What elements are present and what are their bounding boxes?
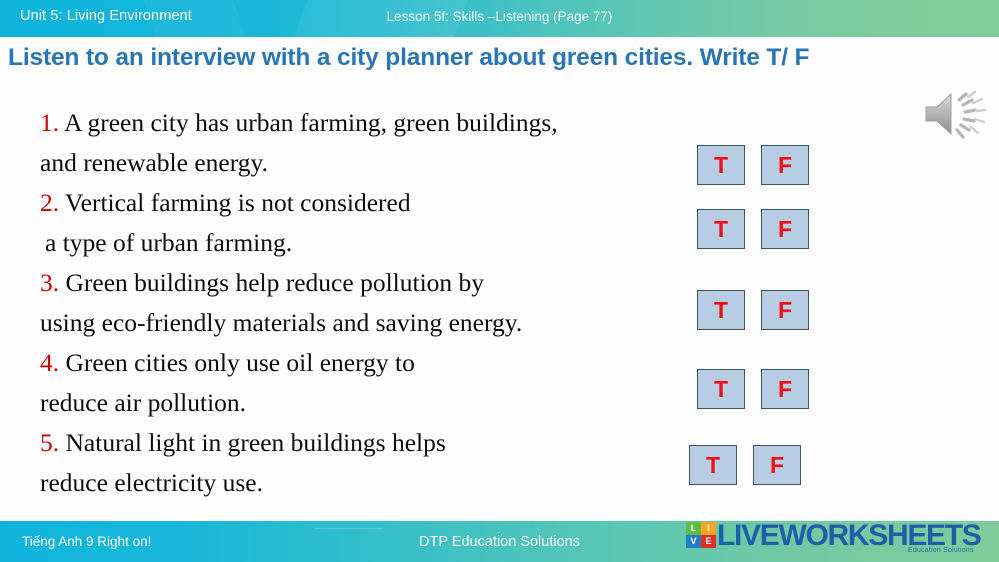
question-line: 5. Natural light in green buildings help… xyxy=(40,423,690,463)
question-text: Vertical farming is not considered xyxy=(65,188,411,217)
answer-false-q2[interactable]: F xyxy=(761,209,809,249)
logo-block-l: L xyxy=(686,522,701,535)
question-line: 1. A green city has urban farming, green… xyxy=(40,103,690,143)
question-text: and renewable energy. xyxy=(40,148,268,177)
answer-true-q4[interactable]: T xyxy=(697,369,745,409)
question-text: a type of urban farming. xyxy=(45,228,292,257)
question-line-cont: reduce electricity use. xyxy=(40,463,690,503)
question-number: 2. xyxy=(40,188,59,217)
answer-true-q1[interactable]: T xyxy=(697,145,745,185)
live-color-blocks: L I V E xyxy=(686,522,716,548)
question-line-cont: reduce air pollution. xyxy=(40,383,690,423)
question-text: Green buildings help reduce pollution by xyxy=(66,268,485,297)
question-text: reduce electricity use. xyxy=(40,468,263,497)
logo-tagline: Education Solutions xyxy=(908,547,974,554)
question-number: 4. xyxy=(40,348,59,377)
question-line-cont: and renewable energy. xyxy=(40,143,690,183)
answer-false-q4[interactable]: F xyxy=(761,369,809,409)
answer-true-q5[interactable]: T xyxy=(689,445,737,485)
question-text: Green cities only use oil energy to xyxy=(66,348,415,377)
answer-false-q5[interactable]: F xyxy=(753,445,801,485)
question-number: 1. xyxy=(40,108,59,137)
question-line-cont: a type of urban farming. xyxy=(40,223,690,263)
question-number: 5. xyxy=(40,428,59,457)
answer-true-q2[interactable]: T xyxy=(697,209,745,249)
questions-list: 1. A green city has urban farming, green… xyxy=(40,103,690,503)
question-number: 3. xyxy=(40,268,59,297)
question-text: reduce air pollution. xyxy=(40,388,246,417)
liveworksheets-logo[interactable]: L I V E LIVEWORKSHEETS Education Solutio… xyxy=(686,518,992,560)
answer-false-q3[interactable]: F xyxy=(761,290,809,330)
question-text: A green city has urban farming, green bu… xyxy=(64,108,558,137)
page-title: Listen to an interview with a city plann… xyxy=(8,44,996,72)
logo-block-e: E xyxy=(701,535,716,548)
question-line: 2. Vertical farming is not considered xyxy=(40,183,690,223)
question-line-cont: using eco-friendly materials and saving … xyxy=(40,303,690,343)
question-text: Natural light in green buildings helps xyxy=(66,428,446,457)
question-line: 4. Green cities only use oil energy to xyxy=(40,343,690,383)
logo-block-i: I xyxy=(701,522,716,535)
slide-header-bar: Unit 5: Living Environment Lesson 5f: Sk… xyxy=(0,0,999,37)
question-line: 3. Green buildings help reduce pollution… xyxy=(40,263,690,303)
answer-true-q3[interactable]: T xyxy=(697,290,745,330)
logo-block-v: V xyxy=(686,535,701,548)
answer-false-q1[interactable]: F xyxy=(761,145,809,185)
speaker-icon[interactable] xyxy=(920,88,990,140)
lesson-label: Lesson 5f: Skills –Listening (Page 77) xyxy=(0,9,999,24)
question-text: using eco-friendly materials and saving … xyxy=(40,308,522,337)
